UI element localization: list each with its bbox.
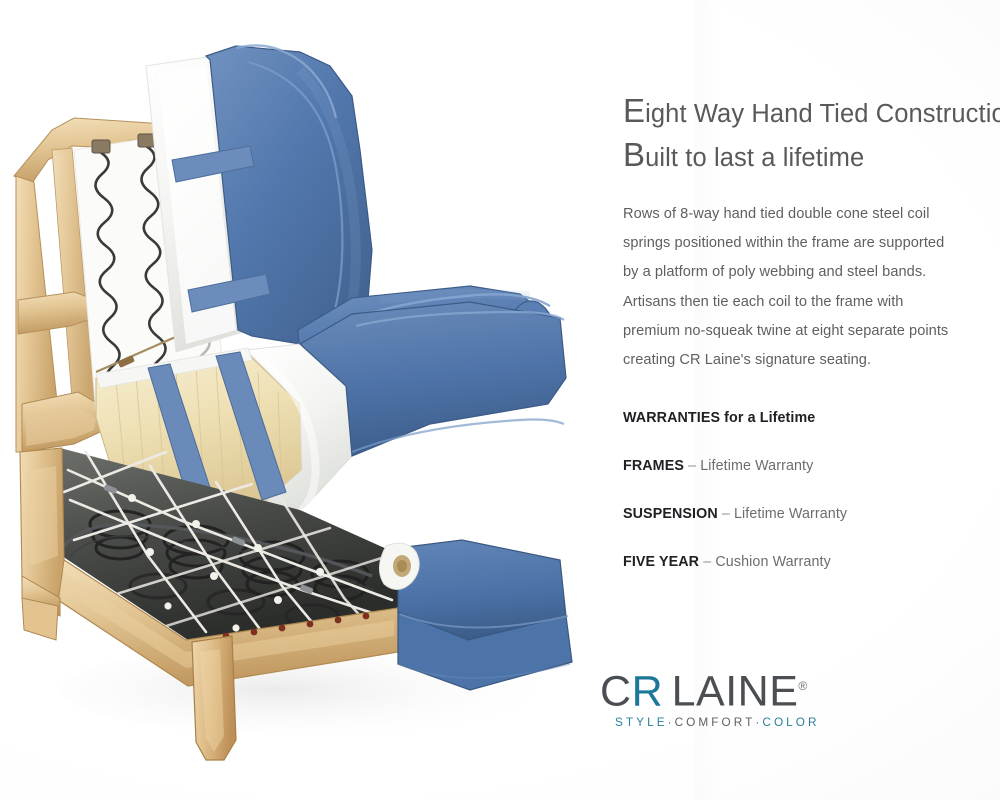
page-title: Eight Way Hand Tied Construction... Buil… — [623, 92, 995, 180]
tagline-color: COLOR — [762, 715, 819, 729]
warranty-dash-frames: – — [688, 458, 696, 474]
warranty-dash-suspension: – — [722, 506, 730, 522]
poster-page: Eight Way Hand Tied Construction... Buil… — [0, 0, 1000, 800]
headline-line-1-capital: E — [623, 92, 645, 129]
brand-letter-r: R — [632, 667, 672, 715]
headline-line-2: Built to last a lifetime — [623, 136, 995, 180]
brand-tagline: STYLE·COMFORT·COLOR — [600, 715, 840, 729]
warranty-item-five-year: FIVE YEAR – Cushion Warranty — [623, 552, 983, 600]
warranty-term-frames: FRAMES — [623, 458, 684, 474]
warranties-heading: WARRANTIES for a Lifetime — [623, 408, 983, 456]
warranty-detail-frames: Lifetime Warranty — [700, 458, 813, 474]
brand-wordmark: CRLAINE® — [600, 663, 840, 714]
tagline-comfort: COMFORT — [675, 715, 756, 729]
warranty-item-frames: FRAMES – Lifetime Warranty — [623, 456, 983, 504]
tagline-style: STYLE — [615, 715, 668, 729]
base-skirt — [379, 540, 572, 690]
registered-trademark-icon: ® — [798, 679, 807, 693]
headline-line-2-capital: B — [623, 136, 645, 173]
corner-block — [22, 598, 58, 640]
warranties-heading-text: WARRANTIES for a Lifetime — [623, 410, 815, 426]
warranty-term-five-year: FIVE YEAR — [623, 554, 699, 570]
warranties-list: WARRANTIES for a Lifetime FRAMES – Lifet… — [623, 408, 983, 600]
warranty-detail-five-year: Cushion Warranty — [715, 554, 831, 570]
body-paragraph: Rows of 8-way hand tied double cone stee… — [623, 200, 963, 375]
tapered-wooden-leg — [192, 636, 236, 760]
brand-logo: CRLAINE® STYLE·COMFORT·COLOR — [600, 663, 840, 733]
brand-letter-c: C — [600, 667, 632, 715]
warranty-dash-five-year: – — [703, 554, 711, 570]
warranty-term-suspension: SUSPENSION — [623, 506, 718, 522]
headline-line-1: Eight Way Hand Tied Construction... — [623, 100, 1000, 128]
tagline-separator-1: · — [668, 715, 675, 729]
headline-line-2-text: uilt to last a lifetime — [645, 144, 864, 172]
warranty-detail-suspension: Lifetime Warranty — [734, 506, 847, 522]
product-photo — [0, 0, 650, 800]
headline-line-1-text: ight Way Hand Tied Construction... — [645, 100, 1000, 128]
warranty-item-suspension: SUSPENSION – Lifetime Warranty — [623, 504, 983, 552]
brand-laine: LAINE — [672, 667, 799, 715]
